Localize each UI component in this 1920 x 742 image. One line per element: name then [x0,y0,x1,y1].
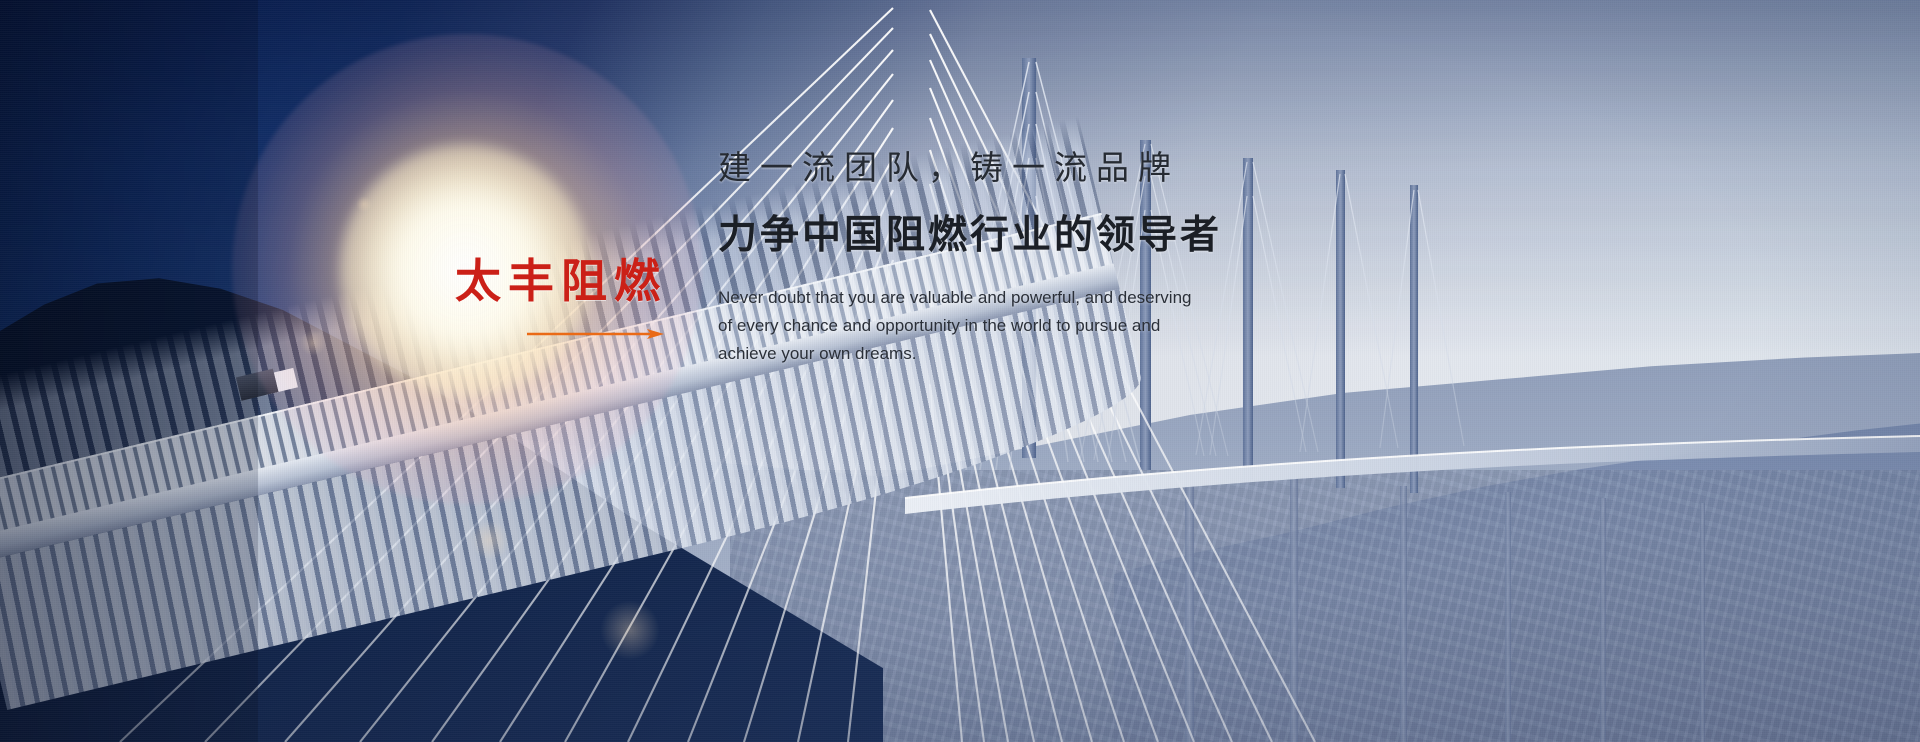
hero-banner: 太丰阻燃 建一流团队，铸一流品牌 力争中国阻燃行业的领导者 Never doub… [0,0,1920,742]
brand-logo[interactable]: 太丰阻燃 [455,258,667,340]
subcopy-paragraph: Never doubt that you are valuable and po… [718,284,1293,367]
headline-secondary: 力争中国阻燃行业的领导者 [718,214,1358,259]
banner-content: 太丰阻燃 建一流团队，铸一流品牌 力争中国阻燃行业的领导者 Never doub… [0,0,1920,742]
brand-name: 太丰阻燃 [455,258,667,304]
banner-copy: 建一流团队，铸一流品牌 力争中国阻燃行业的领导者 Never doubt tha… [718,148,1358,367]
headline-primary: 建一流团队，铸一流品牌 [718,148,1358,188]
arrow-right-icon [527,328,665,340]
subcopy-line: Never doubt that you are valuable and po… [718,284,1293,312]
subcopy-line: of every chance and opportunity in the w… [718,312,1293,340]
subcopy-line: achieve your own dreams. [718,340,1293,368]
